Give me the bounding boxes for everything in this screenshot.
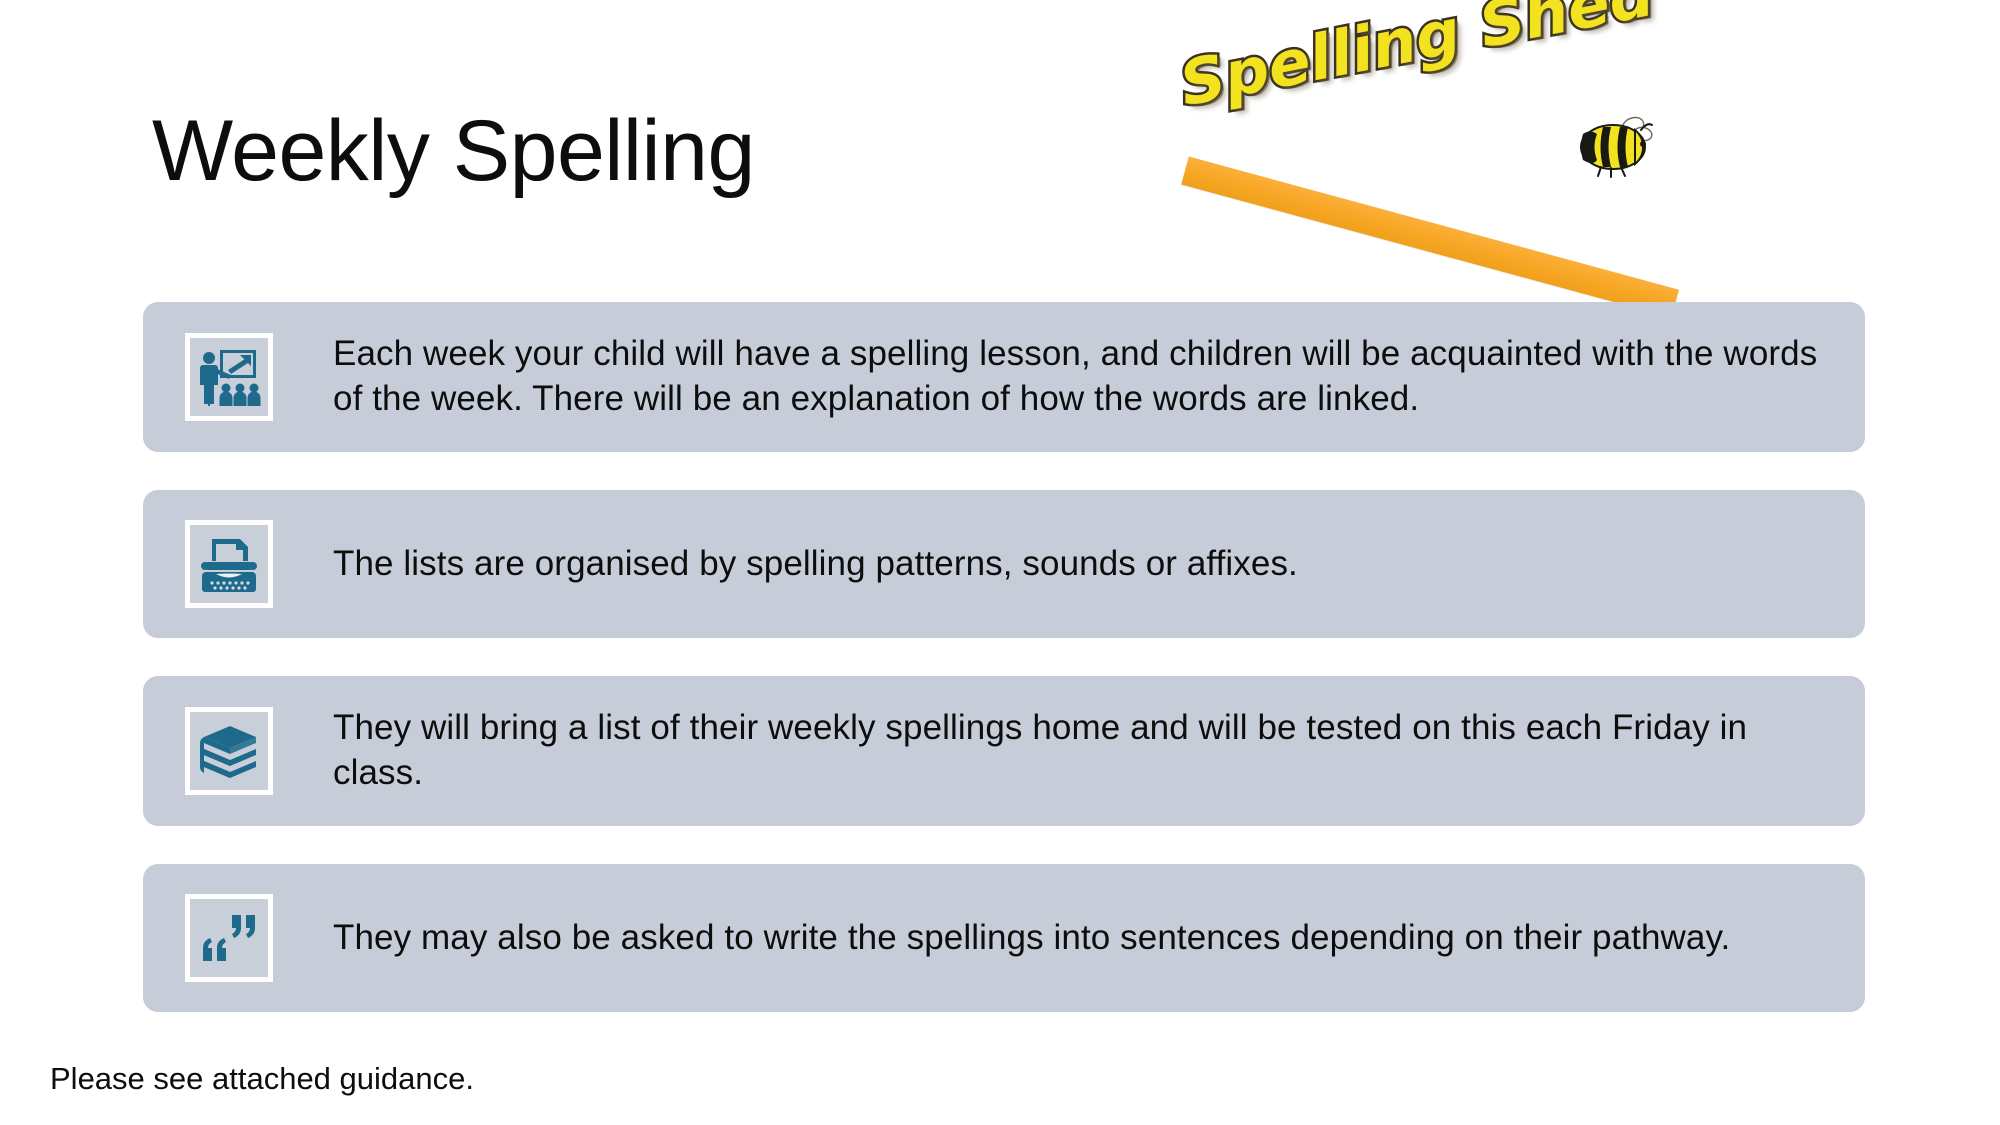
typewriter-icon: [196, 531, 262, 597]
content-row: The lists are organised by spelling patt…: [143, 490, 1865, 638]
slide-canvas: Weekly Spelling Spelling Shed: [0, 0, 2000, 1125]
book-stack-icon: [196, 718, 262, 784]
content-row: Each week your child will have a spellin…: [143, 302, 1865, 452]
icon-tile: [185, 333, 273, 421]
bee-icon: [1573, 110, 1659, 180]
logo-wordmark: Spelling Shed: [1175, 0, 1658, 115]
teacher-whiteboard-icon: [196, 344, 262, 410]
quotation-marks-icon: [196, 905, 262, 971]
icon-tile: [185, 520, 273, 608]
spelling-shed-logo: Spelling Shed: [1175, 18, 1715, 303]
row-text: The lists are organised by spelling patt…: [333, 542, 1831, 587]
icon-tile: [185, 894, 273, 982]
page-title: Weekly Spelling: [152, 106, 755, 197]
content-row: They will bring a list of their weekly s…: [143, 676, 1865, 826]
row-text: They will bring a list of their weekly s…: [333, 706, 1831, 796]
row-text: They may also be asked to write the spel…: [333, 916, 1831, 961]
icon-tile: [185, 707, 273, 795]
content-row: They may also be asked to write the spel…: [143, 864, 1865, 1012]
content-rows: Each week your child will have a spellin…: [143, 302, 1865, 1050]
row-text: Each week your child will have a spellin…: [333, 332, 1831, 422]
logo-orange-bar: [1181, 157, 1679, 318]
footer-note: Please see attached guidance.: [50, 1060, 474, 1097]
